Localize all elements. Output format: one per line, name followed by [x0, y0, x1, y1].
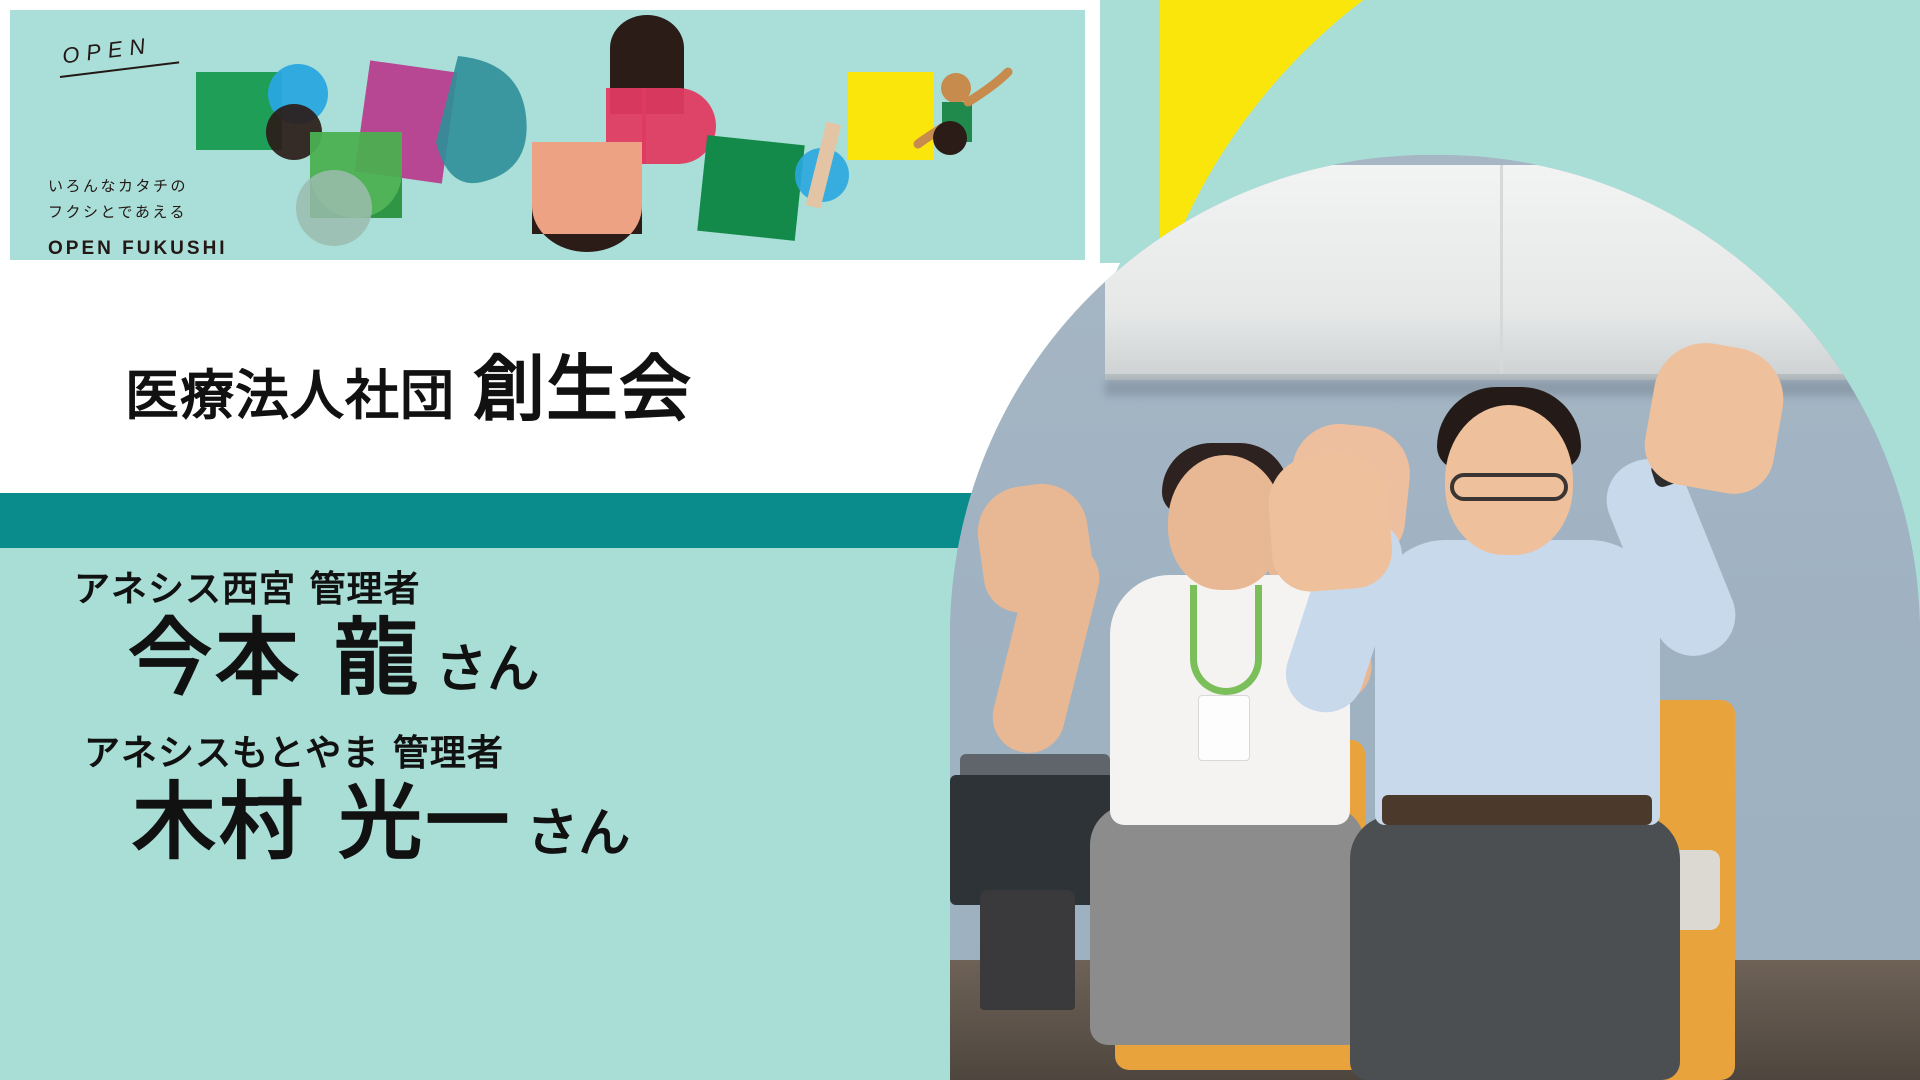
photo-waste-bin [980, 890, 1075, 1010]
logo-wordmark: OPEN FUKUSHI [48, 238, 228, 260]
photo-person-right-glasses-icon [1450, 473, 1568, 501]
person-name: 今本 龍さん [128, 614, 900, 702]
people-list: アネシス西宮 管理者 今本 龍さん アネシスもとやま 管理者 木村 光一さん [0, 560, 900, 888]
photo-person-left-id-badge [1198, 695, 1250, 761]
photo-person-right-shirt [1375, 540, 1660, 825]
interview-photo [950, 155, 1920, 1080]
person-name-main: 今本 龍 [128, 609, 421, 707]
slide-canvas: OPEN いろんなカタチの フクシとであえる OPEN FUKUSHI 医療法人… [0, 0, 1920, 1080]
photo-person-right-belt [1382, 795, 1652, 825]
person-name: 木村 光一さん [132, 778, 900, 866]
person-entry: アネシス西宮 管理者 今本 龍さん [0, 560, 900, 702]
person-name-suffix: さん [526, 804, 630, 864]
logo-tagline-line-1: いろんなカタチの [48, 174, 188, 200]
photo-person-right-legs [1350, 815, 1680, 1080]
photo-person-left-lanyard [1190, 585, 1262, 695]
person-name-suffix: さん [435, 640, 539, 700]
title-accent-bar [0, 493, 1100, 548]
person-entry: アネシスもとやま 管理者 木村 光一さん [0, 724, 900, 866]
photo-wall-cabinet [1105, 165, 1895, 380]
person-name-main: 木村 光一 [132, 773, 512, 871]
photo-person-right-hand-left [1265, 451, 1394, 594]
logo-tagline-line-2: フクシとであえる [48, 200, 188, 226]
logo-tagline: いろんなカタチの フクシとであえる [48, 174, 188, 227]
page-title-prefix: 医療法人社団 [125, 364, 455, 427]
person-role: アネシスもとやま 管理者 [84, 724, 900, 776]
photo-person-left-legs [1090, 805, 1365, 1045]
photo-person-left-face [1168, 455, 1283, 590]
page-title: 医療法人社団創生会 [125, 330, 692, 435]
page-title-main: 創生会 [473, 347, 692, 431]
open-fukushi-logo-panel: OPEN いろんなカタチの フクシとであえる OPEN FUKUSHI [10, 10, 1085, 260]
person-role: アネシス西宮 管理者 [74, 560, 900, 612]
